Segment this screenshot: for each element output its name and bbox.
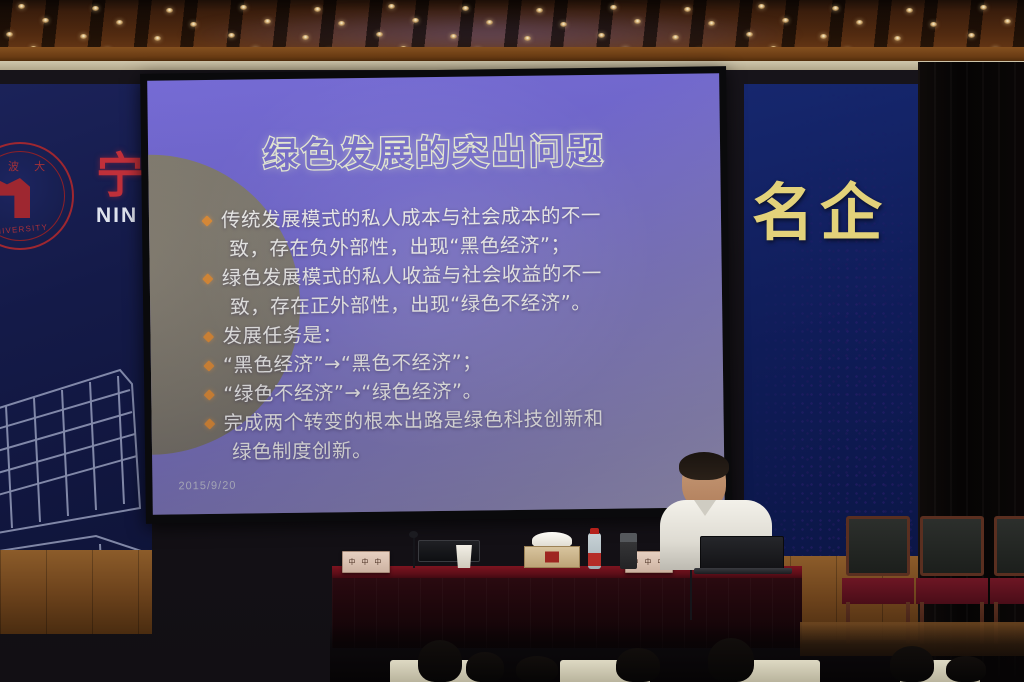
slide-bullet-line: 致，存在正外部性，出现“绿色不经济”。 xyxy=(204,289,698,320)
slide-bullet-text: 传统发展模式的私人成本与社会成本的不一 xyxy=(221,203,601,233)
ceiling-downlight xyxy=(708,21,715,26)
ceiling-downlight xyxy=(598,33,605,38)
ceiling-downlight xyxy=(610,5,617,10)
ceiling-downlight xyxy=(92,6,99,11)
ceiling-downlight xyxy=(524,36,531,41)
bullet-diamond-icon xyxy=(204,389,215,400)
slide-bullet-line: 致，存在负外部性，出现“黑色经济”； xyxy=(203,231,697,262)
audience-head xyxy=(616,648,660,682)
banner-left-wordmark: NIN xyxy=(96,204,138,228)
chair-cushion xyxy=(842,578,914,604)
chair-back xyxy=(994,516,1024,576)
slide-bullet-line: “黑色经济”→“黑色不经济”； xyxy=(205,347,699,378)
ceiling-downlight xyxy=(450,34,457,39)
laptop-base xyxy=(694,568,792,574)
ceiling-downlight xyxy=(376,32,383,37)
microphone-stand-left xyxy=(413,534,415,568)
ceiling-downlight xyxy=(240,5,247,10)
slide-title: 绿色发展的突出问题 xyxy=(148,121,721,179)
audience-head xyxy=(418,640,462,682)
ceiling-downlight xyxy=(116,20,123,25)
lecture-hall-photo: 宁 波 大 学 NINGBO UNIVERSITY 宁 NIN 名企 绿色发展的… xyxy=(0,0,1024,682)
slide-date-stamp: 2015/9/20 xyxy=(178,480,236,493)
slide-bullet-line: 绿色发展模式的私人收益与社会收益的不一 xyxy=(204,260,698,291)
banner-left-ningbo-university: 宁 波 大 学 NINGBO UNIVERSITY 宁 NIN xyxy=(0,84,152,634)
slide-bullet-text: 绿色发展模式的私人收益与社会收益的不一 xyxy=(222,261,602,291)
slide-bullet-line: 传统发展模式的私人成本与社会成本的不一 xyxy=(203,202,697,233)
thermos-flask xyxy=(620,533,637,569)
banner-right-calligraphy: 名企 xyxy=(752,162,916,252)
ceiling-downlight xyxy=(758,4,765,9)
ceiling-downlight xyxy=(832,6,839,11)
slide-bullet-text: 发展任务是： xyxy=(222,322,342,349)
ceiling-downlight xyxy=(228,33,235,38)
ceiling-downlight xyxy=(634,19,641,24)
seal-ring-text: NINGBO UNIVERSITY xyxy=(0,223,48,241)
bullet-diamond-icon xyxy=(202,273,213,284)
audience-head xyxy=(890,646,934,682)
paper-cup xyxy=(455,545,473,568)
audience-head xyxy=(516,656,558,682)
slide-bullet-text: “黑色经济”→“黑色不经济”； xyxy=(223,349,483,377)
ceiling-downlight xyxy=(314,7,321,12)
ceiling-downlight xyxy=(894,36,901,41)
bullet-diamond-icon xyxy=(201,215,212,226)
left-wall-wainscot xyxy=(0,550,152,634)
ceiling-downlight xyxy=(930,22,937,27)
ceiling-downlight xyxy=(672,35,679,40)
ceiling-downlight xyxy=(302,35,309,40)
ceiling-downlight xyxy=(1004,19,1011,24)
bullet-diamond-icon xyxy=(203,360,214,371)
slide-bullet-text: 完成两个转变的根本出路是绿色科技创新和 xyxy=(223,406,603,436)
water-bottle xyxy=(588,533,601,569)
ceiling-downlight xyxy=(856,20,863,25)
ceiling-downlight xyxy=(6,32,13,37)
microphone-head-left xyxy=(409,531,418,538)
ceiling-downlight xyxy=(190,22,197,27)
tissue-box xyxy=(524,546,580,568)
ceiling-downlight xyxy=(486,20,493,25)
slide-bullet-line: “绿色不经济”→“绿色经济”。 xyxy=(205,376,699,407)
ceiling-downlight xyxy=(80,34,87,39)
seal-gate-glyph xyxy=(0,178,30,218)
ceiling-downlight xyxy=(684,7,691,12)
ceiling-downlight xyxy=(782,18,789,23)
slide-bullet-text: 绿色制度创新。 xyxy=(224,438,372,465)
banner-left-calligraphy: 宁 xyxy=(96,136,144,206)
ceiling-downlight xyxy=(412,18,419,23)
slide-bullet-line: 发展任务是： xyxy=(204,318,698,349)
ceiling-downlight xyxy=(980,5,987,10)
projection-screen: 绿色发展的突出问题 传统发展模式的私人成本与社会成本的不一致，存在负外部性，出现… xyxy=(147,73,725,514)
ceiling-downlight xyxy=(338,21,345,26)
chair-cushion xyxy=(916,578,988,604)
ceiling-downlight xyxy=(746,32,753,37)
slide-bullet-text: 致，存在负外部性，出现“黑色经济”； xyxy=(221,232,571,262)
ceiling-downlight xyxy=(388,4,395,9)
slide-bullet-text: “绿色不经济”→“绿色经济”。 xyxy=(223,378,483,406)
ceiling-downlight xyxy=(536,8,543,13)
ceiling-downlight xyxy=(264,19,271,24)
slide-bullet-line: 绿色制度创新。 xyxy=(206,434,700,465)
bottle-cap xyxy=(590,528,599,534)
bullet-diamond-icon xyxy=(204,418,215,429)
speaker-hair xyxy=(679,452,729,480)
chair-back xyxy=(920,516,984,576)
slide-bullet-text: 致，存在正外部性，出现“绿色不经济”。 xyxy=(222,290,592,320)
audience-head xyxy=(466,652,504,682)
ceiling-downlight xyxy=(18,4,25,9)
thermos-lid xyxy=(620,533,637,542)
ceiling-downlight xyxy=(560,22,567,27)
audience-head xyxy=(708,638,754,682)
ceiling-downlight xyxy=(154,36,161,41)
chair-back xyxy=(846,516,910,576)
tissue-box-label xyxy=(545,552,559,563)
ceiling-downlight xyxy=(42,18,49,23)
name-placard-left: 中 中 中 xyxy=(342,551,390,573)
ceiling-downlight xyxy=(906,8,913,13)
ceiling-downlight xyxy=(166,8,173,13)
bottle-label xyxy=(588,553,601,566)
slide-bullet-list: 传统发展模式的私人成本与社会成本的不一致，存在负外部性，出现“黑色经济”；绿色发… xyxy=(203,202,700,469)
audience-head xyxy=(946,656,986,682)
ceiling-downlight xyxy=(968,33,975,38)
ceiling-downlight xyxy=(462,6,469,11)
ceiling-downlight xyxy=(820,34,827,39)
projection-screen-frame: 绿色发展的突出问题 传统发展模式的私人成本与社会成本的不一致，存在负外部性，出现… xyxy=(140,66,732,524)
seal-cn-text: 宁 波 大 学 xyxy=(0,158,72,190)
audience-foreground xyxy=(330,624,1024,682)
bullet-diamond-icon xyxy=(203,331,214,342)
chair-cushion xyxy=(990,578,1024,604)
slide-bullet-line: 完成两个转变的根本出路是绿色科技创新和 xyxy=(205,405,699,436)
laptop xyxy=(700,536,784,570)
